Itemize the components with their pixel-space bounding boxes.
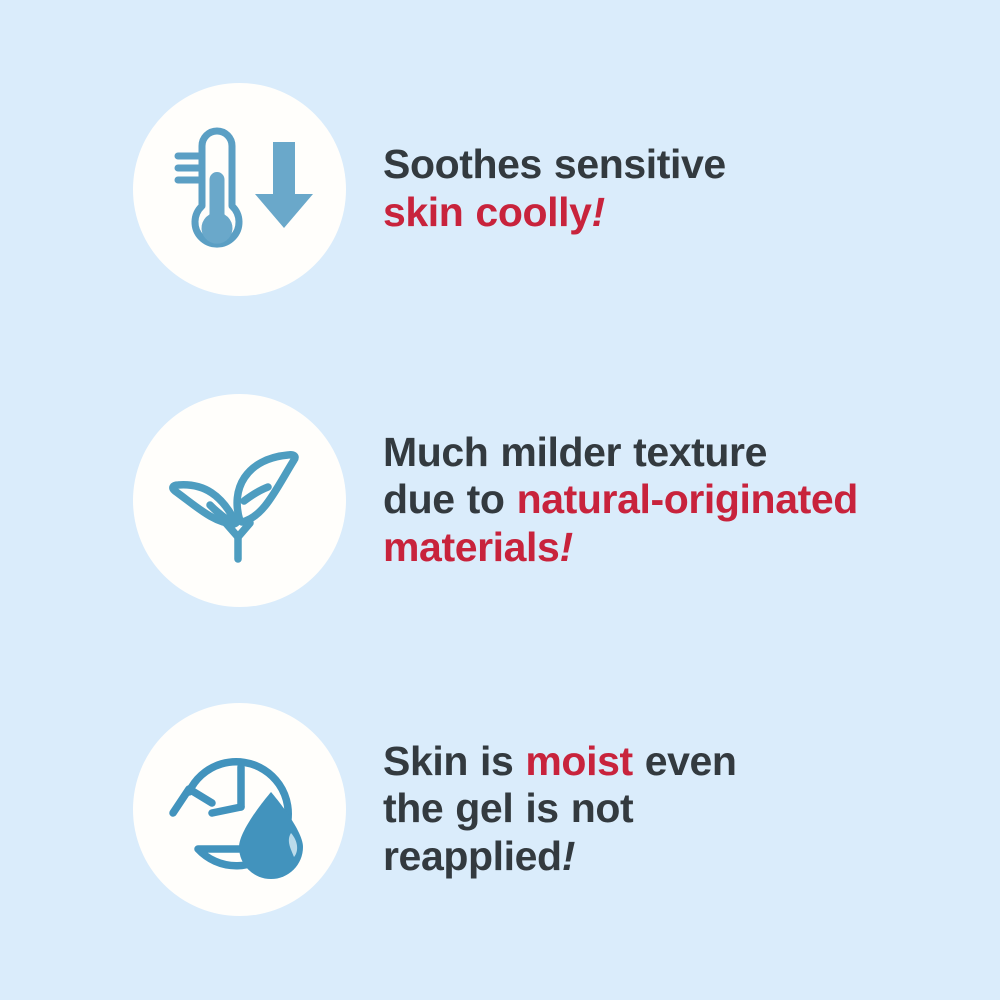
benefits-infographic: Soothes sensitiveskin coolly! Much bbox=[0, 0, 1000, 1000]
benefit-line: skin coolly! bbox=[383, 189, 960, 237]
plant-sprout-icon bbox=[133, 394, 346, 607]
benefit-line: Much milder texture bbox=[383, 429, 960, 477]
benefit-line: Soothes sensitive bbox=[383, 141, 960, 189]
benefit-line: due to natural-originated bbox=[383, 476, 960, 524]
benefit-row: Much milder texturedue to natural-origin… bbox=[0, 392, 1000, 608]
benefit-line: reapplied! bbox=[383, 833, 960, 881]
benefit-line: materials! bbox=[383, 524, 960, 572]
benefit-row: Skin is moist eventhe gel is notreapplie… bbox=[0, 702, 1000, 916]
clock-droplet-icon bbox=[133, 703, 346, 916]
benefit-text: Much milder texturedue to natural-origin… bbox=[383, 429, 1000, 572]
benefit-row: Soothes sensitiveskin coolly! bbox=[0, 82, 1000, 296]
benefit-line: Skin is moist even bbox=[383, 738, 960, 786]
benefit-text: Skin is moist eventhe gel is notreapplie… bbox=[383, 738, 1000, 881]
thermometer-down-icon bbox=[133, 83, 346, 296]
benefit-text: Soothes sensitiveskin coolly! bbox=[383, 141, 1000, 236]
benefit-line: the gel is not bbox=[383, 785, 960, 833]
